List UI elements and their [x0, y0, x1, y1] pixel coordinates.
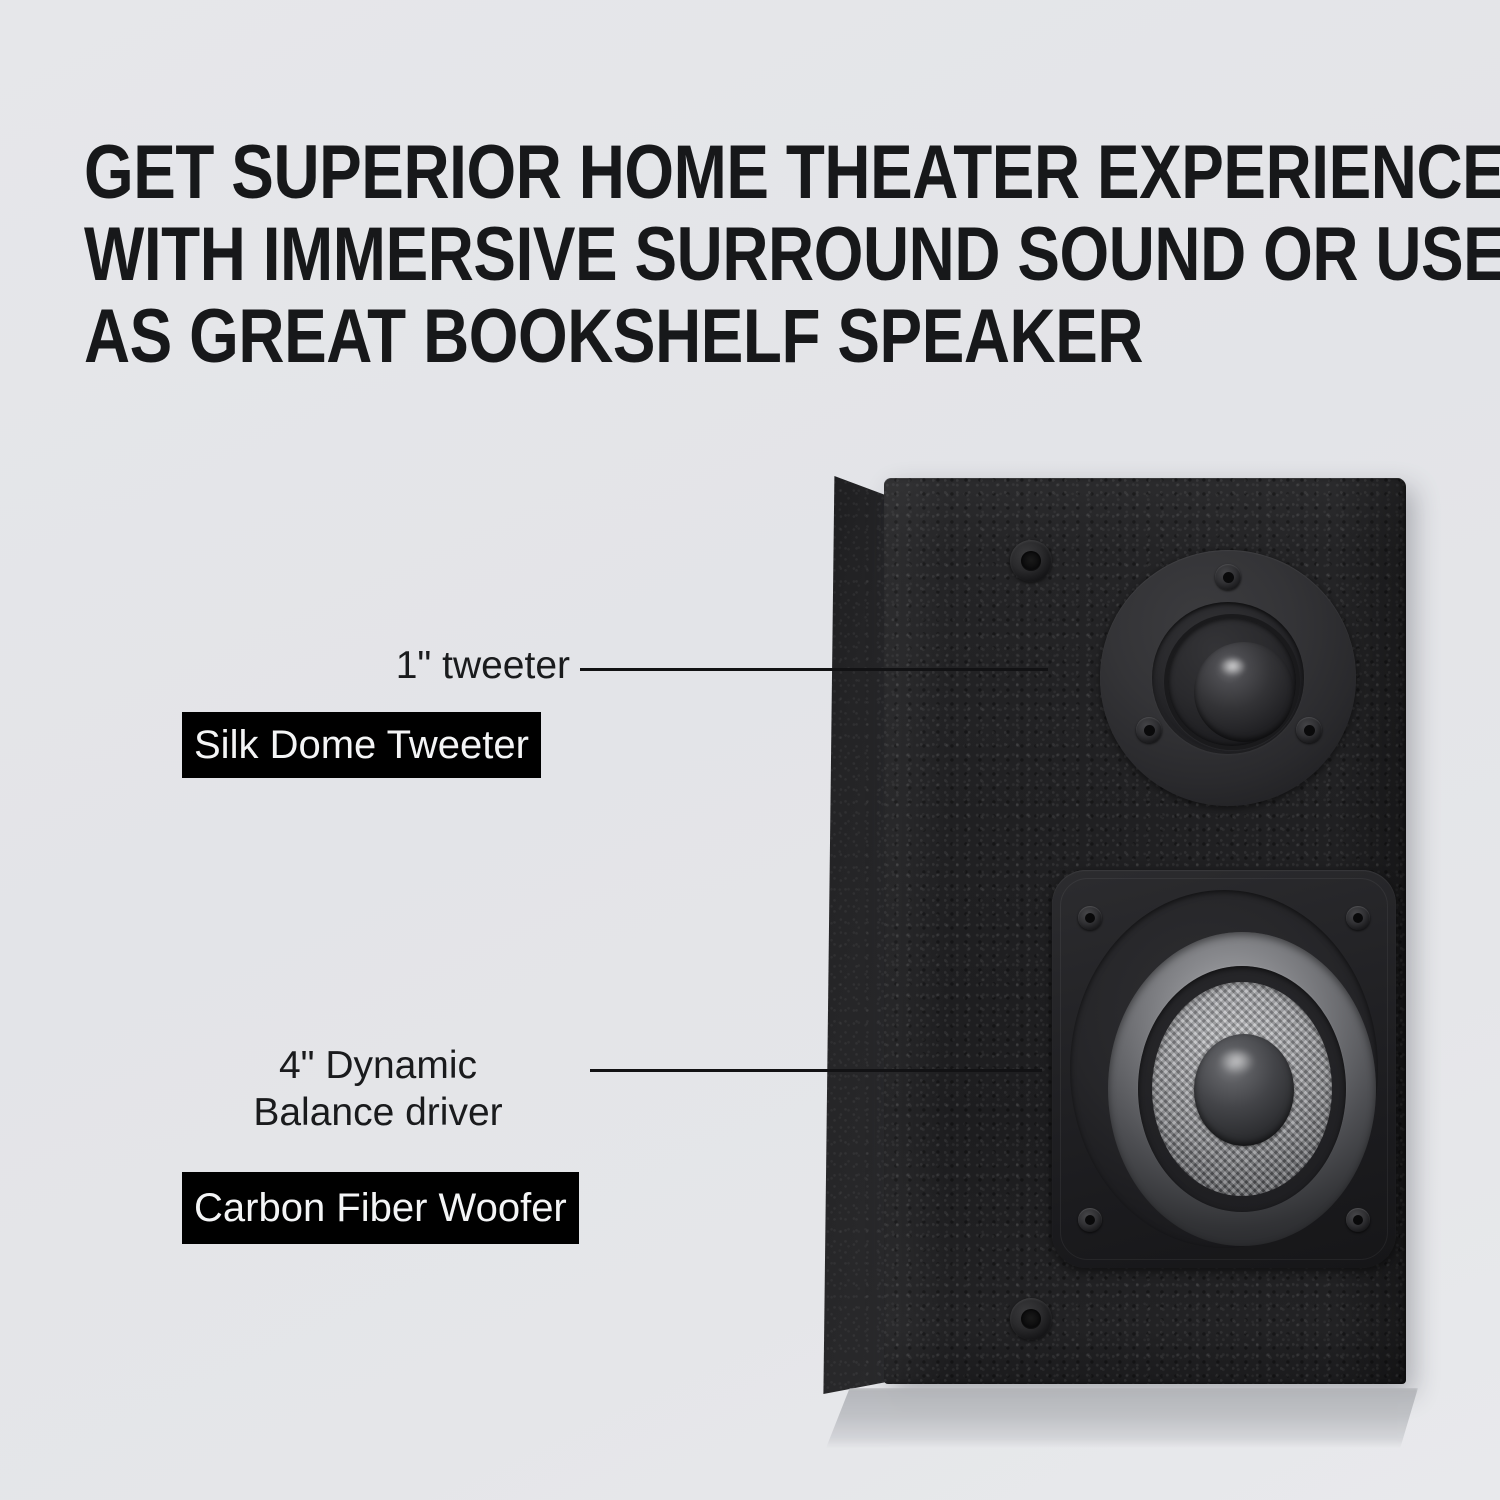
cabinet-side-panel: [786, 476, 896, 1394]
woofer-screw-bottom-left-icon: [1078, 1208, 1102, 1232]
woofer-screw-bottom-right-icon: [1346, 1208, 1370, 1232]
speaker-reflection: [826, 1388, 1418, 1448]
cabinet-front-baffle: [884, 478, 1406, 1384]
woofer-driver: [1052, 870, 1396, 1268]
headline-line-1: GET SUPERIOR HOME THEATER EXPERIENCE: [84, 132, 1226, 214]
woofer-size-label: 4" Dynamic Balance driver: [178, 1042, 578, 1136]
leader-line-tweeter: [580, 668, 1048, 671]
woofer-rubber-surround: [1108, 932, 1376, 1246]
headline: GET SUPERIOR HOME THEATER EXPERIENCE WIT…: [84, 132, 1444, 378]
woofer-basket: [1070, 890, 1378, 1248]
woofer-size-label-line-2: Balance driver: [178, 1089, 578, 1136]
cabinet-screw-bottom-left-icon: [1010, 1298, 1052, 1340]
tweeter-silk-dome: [1194, 642, 1294, 742]
tweeter-feature-tag: Silk Dome Tweeter: [182, 712, 541, 778]
tweeter-size-label: 1" tweeter: [178, 642, 570, 689]
headline-line-2: WITH IMMERSIVE SURROUND SOUND OR USE: [84, 214, 1226, 296]
woofer-carbon-fiber-cone: [1152, 982, 1332, 1196]
tweeter-surround: [1152, 602, 1304, 754]
tweeter-ring: [1164, 614, 1300, 750]
woofer-dust-cap: [1194, 1034, 1294, 1146]
speaker-product-image: [786, 470, 1426, 1400]
tweeter-driver: [1100, 550, 1356, 806]
woofer-surround-inner: [1138, 966, 1346, 1212]
leader-line-woofer: [590, 1069, 1042, 1072]
woofer-screw-top-left-icon: [1078, 906, 1102, 930]
woofer-size-label-line-1: 4" Dynamic: [279, 1044, 477, 1087]
headline-line-3: AS GREAT BOOKSHELF SPEAKER: [84, 296, 1226, 378]
cabinet-screw-top-left-icon: [1010, 540, 1052, 582]
woofer-feature-tag: Carbon Fiber Woofer: [182, 1172, 579, 1244]
woofer-screw-top-right-icon: [1346, 906, 1370, 930]
tweeter-screw-bottom-left-icon: [1136, 717, 1162, 743]
tweeter-screw-bottom-right-icon: [1296, 717, 1322, 743]
tweeter-screw-top-icon: [1215, 564, 1241, 590]
product-feature-image: GET SUPERIOR HOME THEATER EXPERIENCE WIT…: [0, 0, 1500, 1500]
